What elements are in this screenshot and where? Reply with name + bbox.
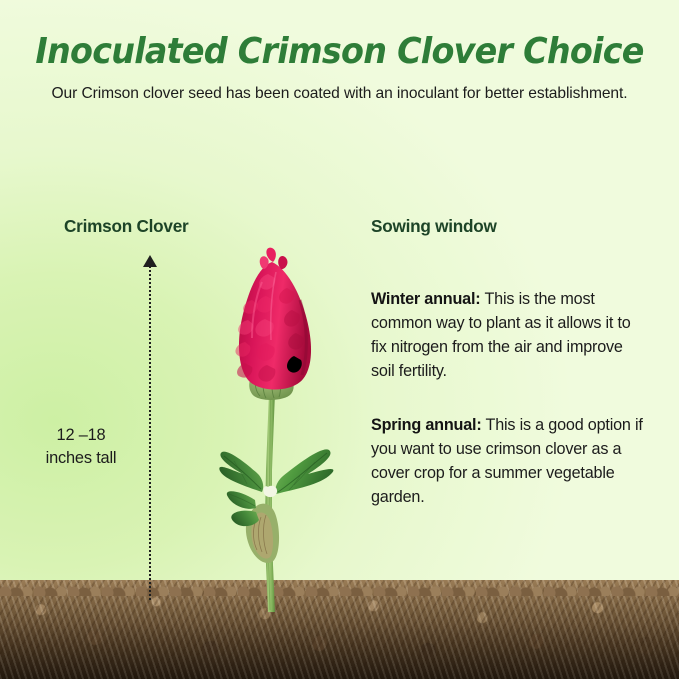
plant-stipule xyxy=(264,486,278,497)
plant-stem xyxy=(265,392,275,612)
plant-leaf-left xyxy=(219,452,263,492)
measurement-value: 12 –18 xyxy=(20,424,142,447)
plant-leaf-right xyxy=(275,449,333,494)
sowing-item-spring-label: Spring annual: xyxy=(371,416,482,434)
left-column-heading: Crimson Clover xyxy=(64,216,188,237)
right-column-heading: Sowing window xyxy=(371,216,497,237)
infographic-canvas: Inoculated Crimson Clover Choice Our Cri… xyxy=(0,0,679,679)
measurement-dotted-line xyxy=(149,266,151,600)
sowing-item-spring: Spring annual: This is a good option if … xyxy=(371,414,643,509)
measurement-unit: inches tall xyxy=(20,447,142,470)
sowing-item-winter-label: Winter annual: xyxy=(371,290,480,308)
sowing-item-winter: Winter annual: This is the most common w… xyxy=(371,288,643,383)
measurement-label: 12 –18 inches tall xyxy=(20,424,142,471)
crimson-flower-head xyxy=(235,248,311,390)
